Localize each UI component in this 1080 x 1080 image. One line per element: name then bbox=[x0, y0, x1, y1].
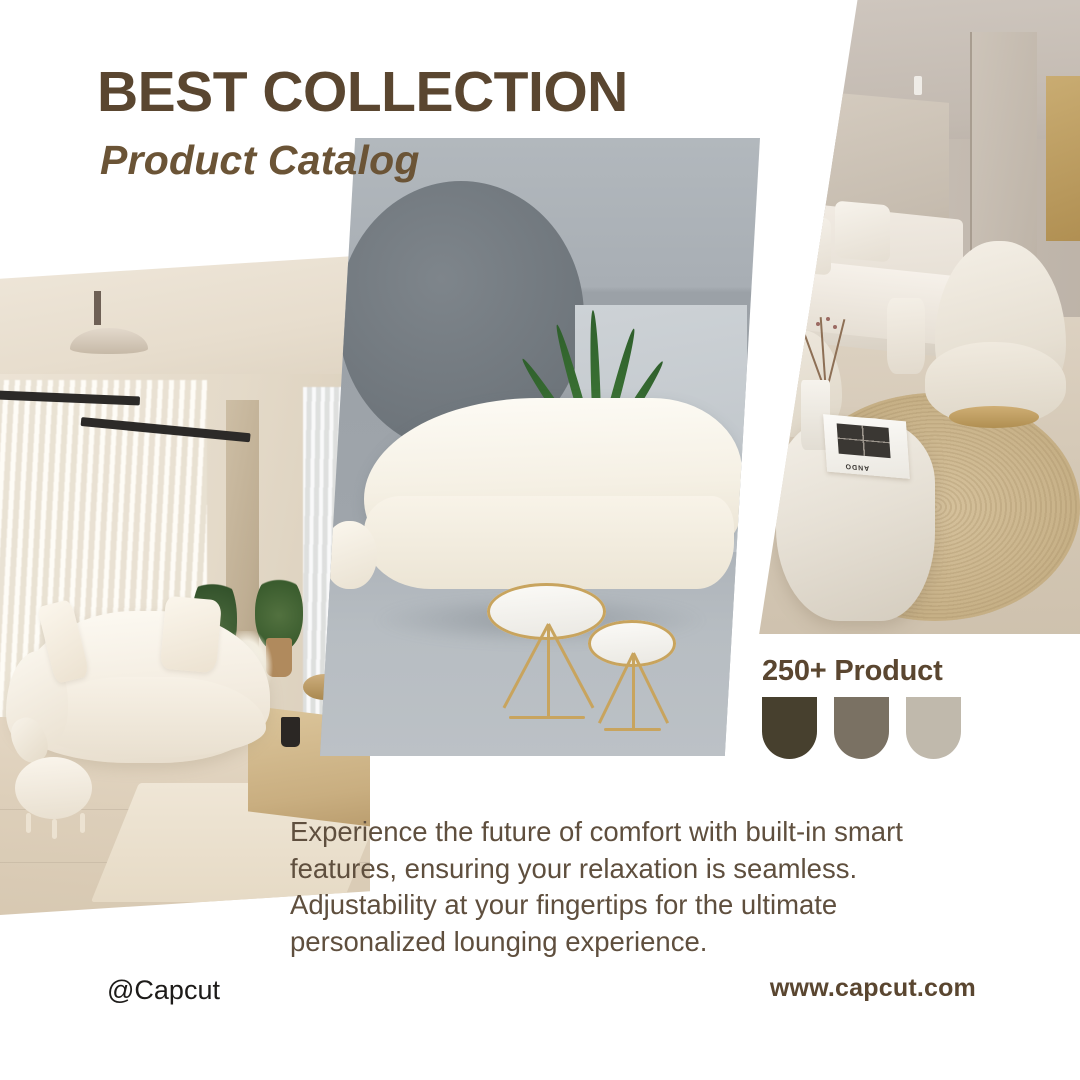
pendant-rod bbox=[94, 291, 101, 325]
bed-pillow bbox=[776, 213, 831, 275]
product-photo-right[interactable]: ANDO bbox=[735, 0, 1080, 634]
chair-brass-base bbox=[949, 406, 1039, 428]
ceramic-stool bbox=[887, 298, 925, 374]
spotlight-icon bbox=[914, 76, 922, 95]
book-cover-art bbox=[837, 424, 890, 458]
sofa-seat bbox=[364, 496, 734, 589]
color-swatch-light-greige[interactable] bbox=[906, 697, 961, 759]
right-scene: ANDO bbox=[735, 0, 1080, 634]
product-photo-center[interactable] bbox=[320, 138, 760, 756]
stool-leg bbox=[52, 819, 57, 839]
nesting-table-small bbox=[588, 620, 676, 731]
page-subtitle: Product Catalog bbox=[100, 140, 420, 181]
website-url[interactable]: www.capcut.com bbox=[770, 974, 976, 1003]
sofa-seat bbox=[37, 677, 266, 756]
poster-canvas: ANDO BEST COLLECTION Product Catalog 250… bbox=[0, 0, 1080, 1080]
product-count-label: 250+ Product bbox=[762, 655, 943, 688]
wall-art bbox=[1046, 76, 1080, 241]
book-title: ANDO bbox=[844, 463, 869, 472]
color-swatch-warm-taupe[interactable] bbox=[834, 697, 889, 759]
color-swatch-dark-olive-brown[interactable] bbox=[762, 697, 817, 759]
black-cup bbox=[281, 717, 300, 747]
cushion bbox=[160, 596, 222, 673]
stool-leg bbox=[26, 813, 31, 833]
color-swatch-group bbox=[762, 697, 961, 759]
center-scene bbox=[320, 138, 760, 756]
description-paragraph: Experience the future of comfort with bu… bbox=[290, 814, 960, 960]
coffee-table-book: ANDO bbox=[823, 415, 910, 480]
stool-leg bbox=[80, 813, 85, 833]
ceiling bbox=[0, 255, 370, 394]
page-title: BEST COLLECTION bbox=[97, 64, 628, 121]
social-handle[interactable]: @Capcut bbox=[107, 975, 220, 1006]
bed-pillow bbox=[835, 200, 890, 262]
